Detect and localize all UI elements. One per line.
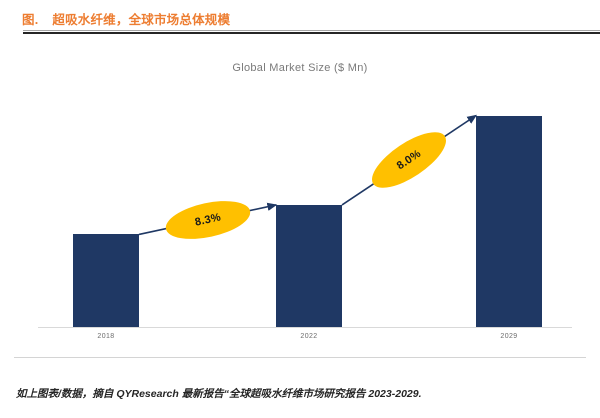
x-tick-2029: 2029: [469, 333, 549, 340]
cagr-badge-2018-2022: 8.3%: [162, 194, 253, 245]
footer-divider: [14, 357, 586, 358]
x-axis-line: [38, 327, 572, 328]
figure-number-label: 图.: [22, 13, 38, 27]
source-note: 如上图表/数据，摘自 QYResearch 最新报告“全球超吸水纤维市场研究报告…: [16, 386, 422, 401]
figure-header: 图.超吸水纤维，全球市场总体规模: [0, 0, 600, 40]
x-tick-2022: 2022: [269, 333, 349, 340]
title-divider-thin: [23, 30, 600, 31]
chart-plot-area: 8.3%8.0% 201820222029: [0, 40, 600, 355]
bar-2029: [476, 116, 542, 327]
bar-2018: [73, 234, 139, 327]
page-title: 图.超吸水纤维，全球市场总体规模: [22, 9, 230, 28]
chart-container: Global Market Size ($ Mn) 8.3%8.0% 20182…: [0, 40, 600, 355]
figure-title-text: 超吸水纤维，全球市场总体规模: [52, 13, 230, 27]
x-tick-2018: 2018: [66, 333, 146, 340]
title-divider-thick: [23, 32, 600, 34]
cagr-badge-2022-2029: 8.0%: [364, 122, 454, 198]
bar-2022: [276, 205, 342, 327]
